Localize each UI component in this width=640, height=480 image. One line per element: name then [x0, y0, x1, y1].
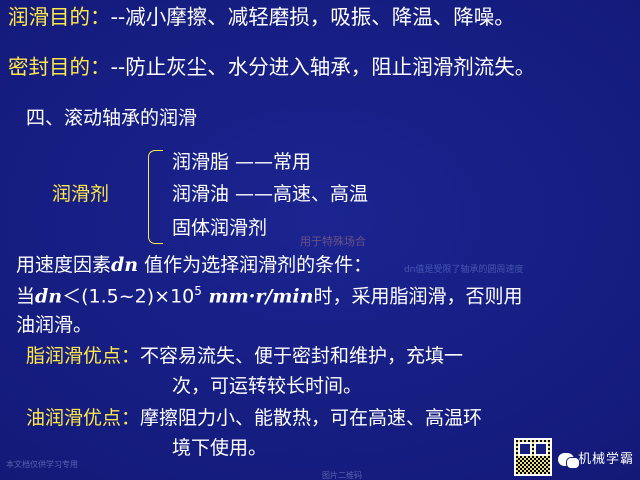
oil-advantage-line-2: 境下使用。 [172, 438, 267, 459]
purpose-lubrication-text: --减小摩擦、减轻磨损，吸振、降温、降噪。 [111, 5, 515, 29]
speed-factor-tail: 时，采用脂润滑，否则用 [313, 285, 522, 307]
brace-icon [148, 150, 163, 244]
oil-advantage-line: 油润滑优点：摩擦阻力小、能散热，可在高速、高温环 [26, 408, 482, 429]
speed-factor-line-2: 当dn＜(1.5~2)×105 mm·r/min时，采用脂润滑，否则用 [16, 285, 522, 307]
lubricant-solid-item: 固体润滑剂 [172, 218, 267, 239]
slide-canvas: 润滑目的：--减小摩擦、减轻磨损，吸振、降温、降噪。 密封目的：--防止灰尘、水… [0, 0, 640, 480]
section-title: 四、滚动轴承的润滑 [26, 108, 197, 129]
speed-factor-inequality: ＜(1.5~2)×10 [62, 285, 194, 307]
speed-factor-symbol-dn-2: dn [35, 285, 62, 307]
oil-advantage-text: 摩擦阻力小、能散热，可在高速、高温环 [140, 407, 482, 429]
speed-factor-line-1: 用速度因素dn 值作为选择润滑剂的条件： [16, 255, 372, 276]
purpose-sealing-line: 密封目的：--防止灰尘、水分进入轴承，阻止润滑剂流失。 [8, 56, 535, 79]
grease-advantage-label: 脂润滑优点： [26, 345, 140, 367]
grease-advantage-line: 脂润滑优点：不容易流失、便于密封和维护，充填一 [26, 346, 463, 367]
speed-factor-text-a: 用速度因素 [16, 254, 111, 276]
speed-factor-text-c: 值作为选择润滑剂的条件： [138, 254, 372, 276]
wechat-icon [558, 453, 574, 466]
oil-advantage-label: 油润滑优点： [26, 407, 140, 429]
speed-factor-unit: mm·r/min [202, 285, 314, 307]
brand-name: 机械学霸 [578, 452, 634, 467]
watermark-qr-note: 图片二维码 [322, 470, 362, 480]
grease-advantage-text: 不容易流失、便于密封和维护，充填一 [140, 345, 463, 367]
watermark-dn-note: dn值是受限了轴承的圆周速度 [404, 262, 523, 275]
watermark-study-only: 本文档仅供学习专用 [6, 459, 78, 470]
purpose-sealing-label: 密封目的： [8, 55, 111, 79]
speed-factor-symbol-dn-1: dn [111, 254, 138, 276]
lubricant-grease-item: 润滑脂 ——常用 [172, 152, 311, 173]
lubricant-label: 润滑剂 [52, 184, 109, 205]
speed-factor-text-when: 当 [16, 285, 35, 307]
watermark-special-use: 用于特殊场合 [300, 233, 366, 249]
speed-factor-exponent: 5 [194, 284, 202, 298]
brand-name-row: 机械学霸 [558, 448, 634, 467]
purpose-lubrication-line: 润滑目的：--减小摩擦、减轻磨损，吸振、降温、降噪。 [8, 6, 515, 29]
brand-block: 机械学霸 [514, 438, 634, 476]
grease-advantage-line-2: 次，可运转较长时间。 [172, 376, 362, 397]
purpose-sealing-text: --防止灰尘、水分进入轴承，阻止润滑剂流失。 [111, 55, 536, 79]
qr-code-icon[interactable] [514, 438, 552, 476]
lubricant-oil-item: 润滑油 ——高速、高温 [172, 184, 368, 205]
purpose-lubrication-label: 润滑目的： [8, 5, 111, 29]
speed-factor-line-3: 油润滑。 [16, 315, 92, 336]
